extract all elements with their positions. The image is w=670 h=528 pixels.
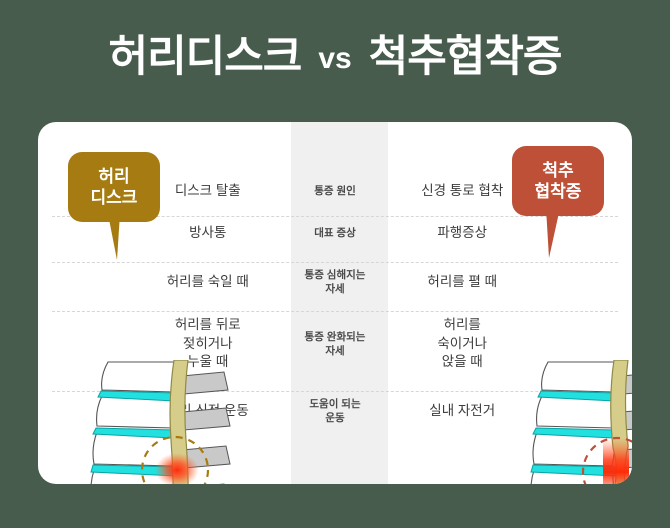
row-left-value: 허리를 숙일 때	[38, 273, 288, 292]
title-left-term: 허리디스크	[109, 33, 302, 81]
page-title: 허리디스크 vs 척추협착증	[0, 36, 670, 79]
table-row: 허리를 숙일 때 통증 심해지는 자세 허리를 펼 때	[38, 262, 632, 302]
row-right-value: 허리를 펼 때	[382, 273, 632, 292]
spinal-stenosis-diagram	[518, 360, 632, 484]
row-right-value: 파행증상	[382, 224, 632, 243]
row-attribute-label: 도움이 되는 운동	[288, 397, 383, 426]
disc-badge: 허리 디스크	[68, 152, 160, 222]
row-left-value: 방사통	[38, 224, 288, 243]
lumbar-disc-herniation-diagram	[78, 360, 238, 484]
title-right-term: 척추협착증	[369, 33, 562, 81]
title-vs-label: vs	[312, 42, 357, 75]
stenosis-badge: 척추 협착증	[512, 146, 604, 216]
row-attribute-label: 통증 심해지는 자세	[288, 268, 383, 297]
row-attribute-label: 통증 원인	[288, 184, 383, 198]
row-attribute-label: 대표 증상	[288, 226, 383, 240]
row-attribute-label: 통증 완화되는 자세	[288, 330, 383, 359]
